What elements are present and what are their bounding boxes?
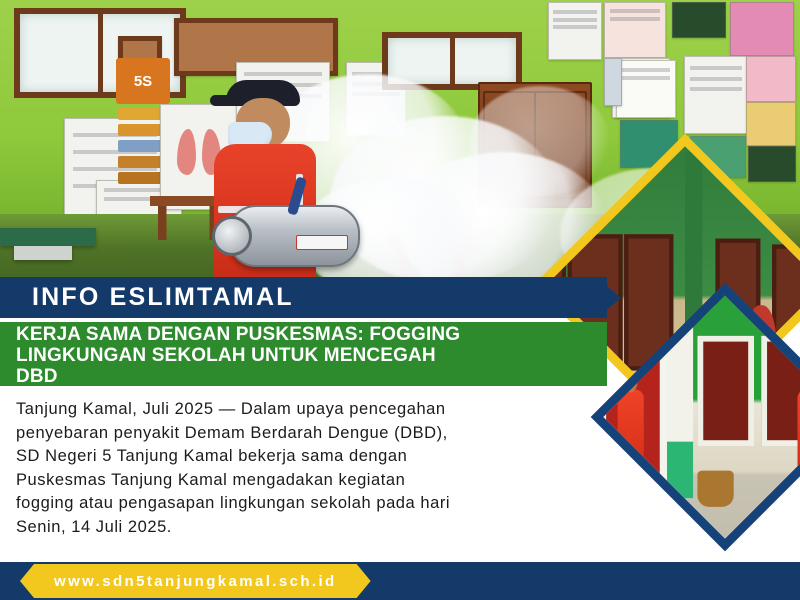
- wall-poster: [604, 2, 666, 58]
- poster-title: INFO ESLIMTAMAL: [0, 283, 294, 312]
- five-s-sign-icon: [116, 58, 170, 104]
- wall-poster: [746, 102, 796, 146]
- wall-poster: [672, 2, 726, 38]
- classroom-desk: [14, 246, 72, 260]
- wall-poster: [746, 56, 796, 102]
- classroom-desk: [0, 228, 96, 246]
- fogging-machine: [228, 205, 360, 267]
- basket-object: [698, 471, 734, 507]
- title-bar: INFO ESLIMTAMAL: [0, 277, 607, 318]
- headline-bar: KERJA SAMA DENGAN PUSKESMAS: FOGGING LIN…: [0, 322, 607, 386]
- worker-figure: [617, 390, 644, 489]
- wall-poster: [684, 56, 748, 134]
- wall-poster: [730, 2, 794, 56]
- headline-text: KERJA SAMA DENGAN PUSKESMAS: FOGGING LIN…: [0, 322, 460, 387]
- wall-poster: [604, 58, 622, 106]
- entrance-window: [761, 336, 800, 446]
- fogger-label: [296, 235, 348, 250]
- entrance-window: [698, 336, 754, 446]
- wall-poster: [616, 60, 676, 118]
- website-url-tag[interactable]: www.sdn5tanjungkamal.sch.id: [20, 564, 371, 598]
- fog-smoke: [470, 86, 610, 196]
- website-url-text: www.sdn5tanjungkamal.sch.id: [54, 573, 337, 590]
- wall-poster: [548, 2, 602, 60]
- title-bar-notch: [597, 277, 621, 318]
- body-paragraph: Tanjung Kamal, Juli 2025 — Dalam upaya p…: [16, 398, 612, 539]
- wall-poster: [748, 146, 796, 182]
- poster-canvas: INFO ESLIMTAMAL KERJA SAMA DENGAN PUSKES…: [0, 0, 800, 600]
